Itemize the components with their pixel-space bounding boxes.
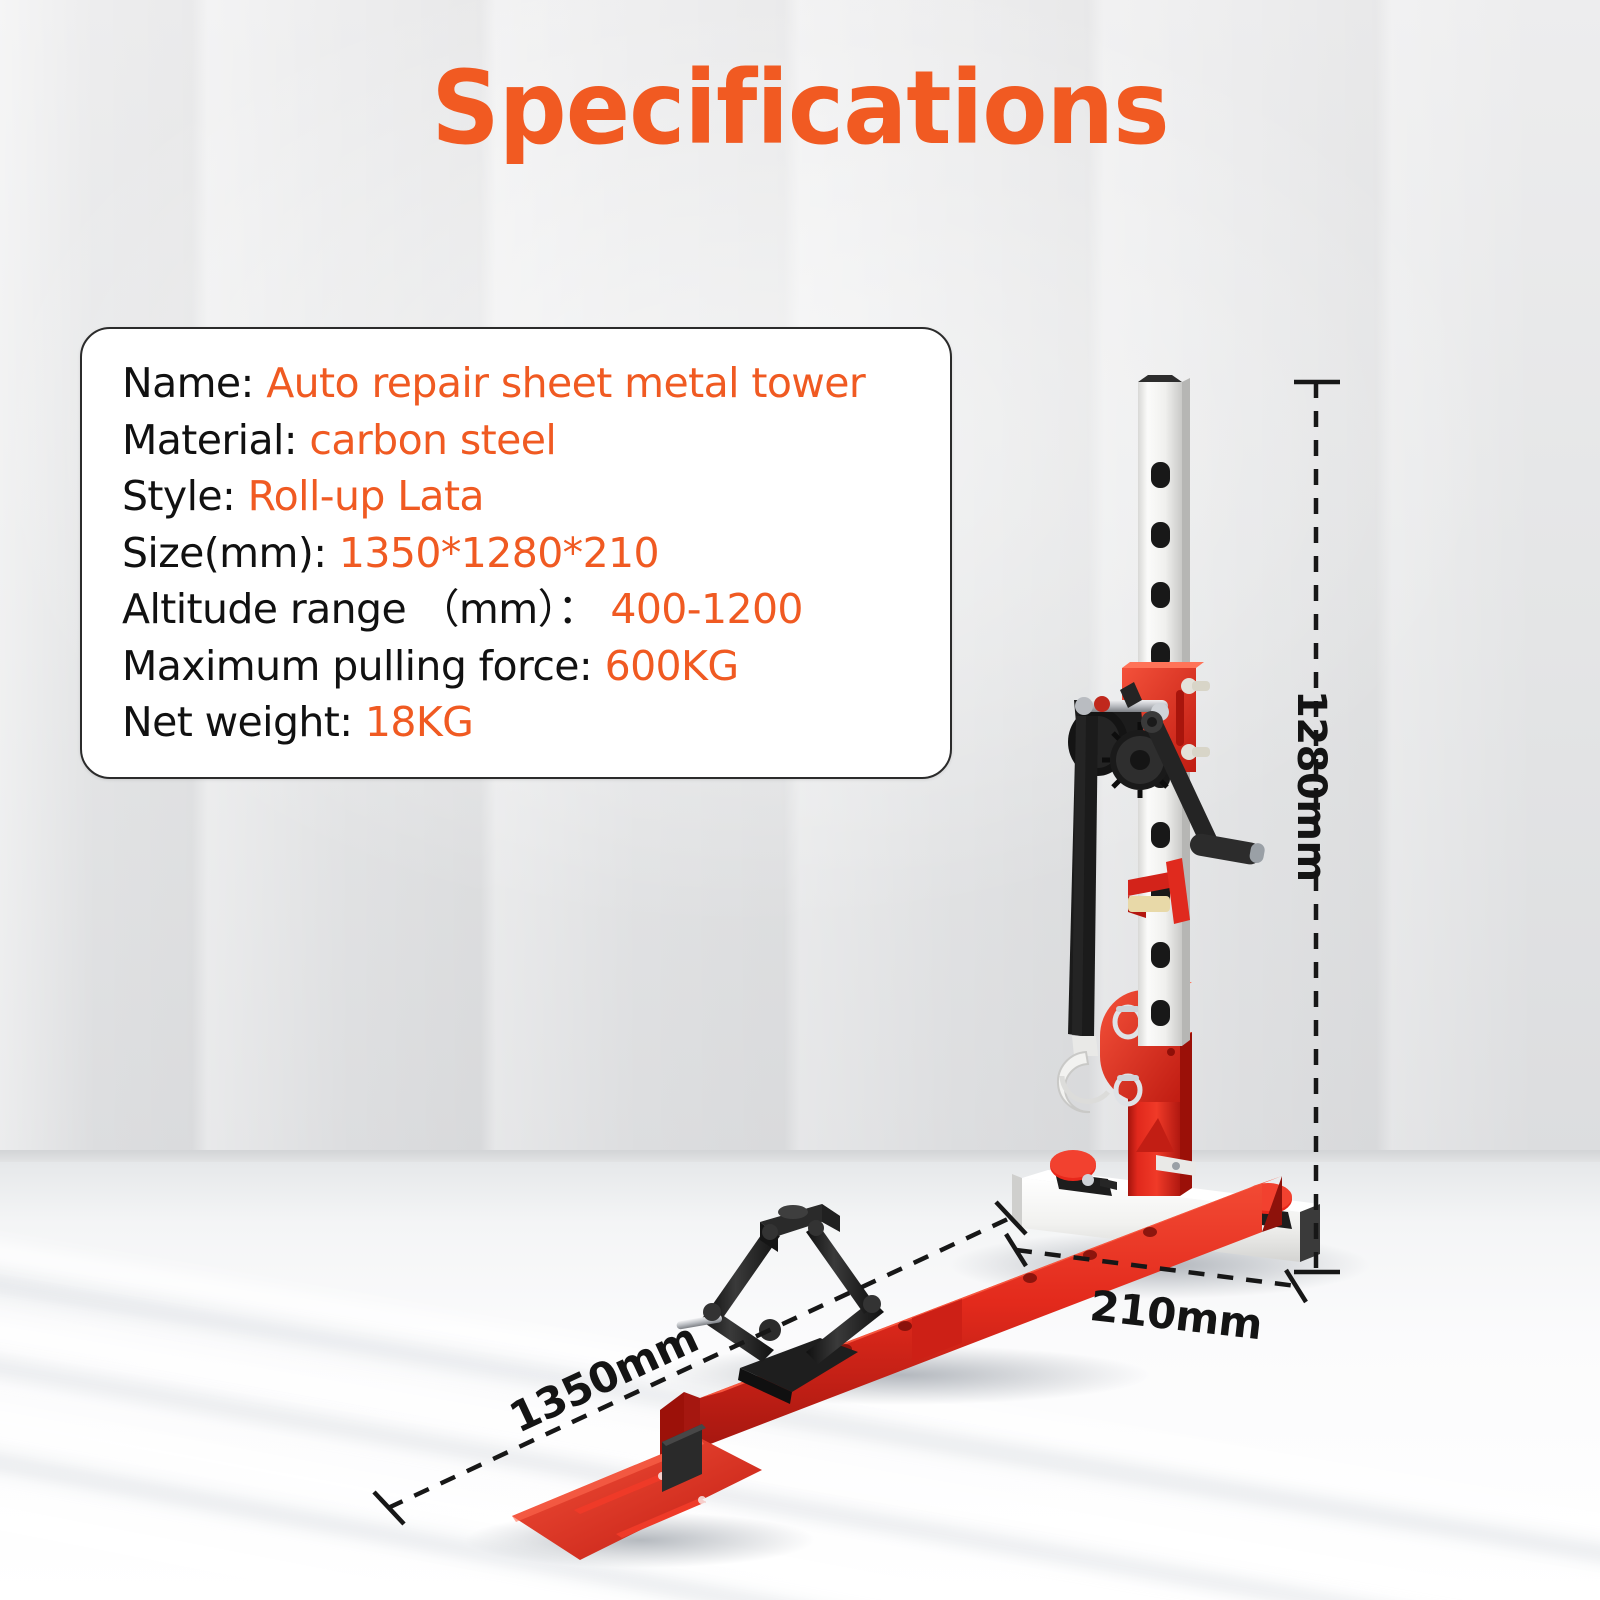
caster-wheel-left xyxy=(1050,1150,1117,1196)
product-spec-image: Specifications Name: Auto repair sheet m… xyxy=(0,0,1600,1600)
lifting-strap xyxy=(1068,716,1098,1038)
product-photo xyxy=(0,0,1600,1600)
dimension-label-height: 1280mm xyxy=(1288,690,1334,882)
